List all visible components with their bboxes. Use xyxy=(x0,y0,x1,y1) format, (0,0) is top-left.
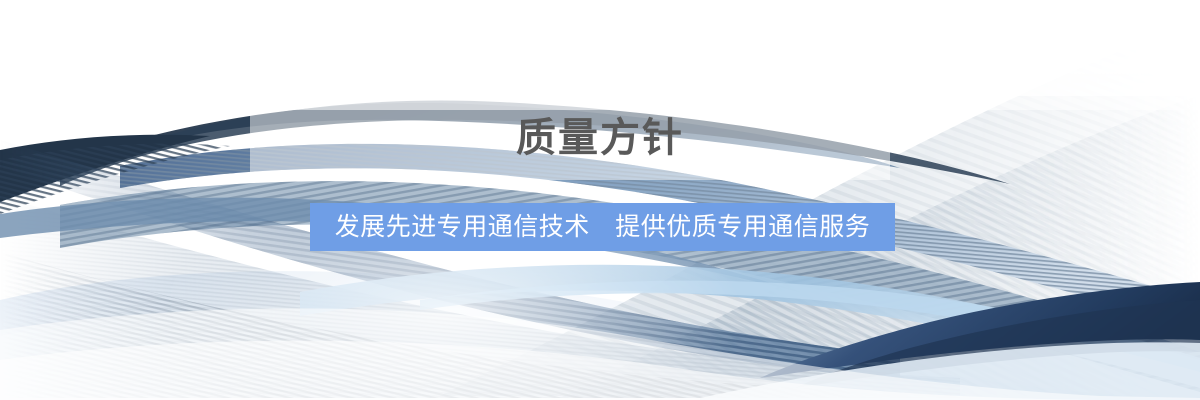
slogan-text: 发展先进专用通信技术 提供优质专用通信服务 xyxy=(335,212,871,242)
page-title: 质量方针 xyxy=(0,114,1200,162)
slogan-bar: 发展先进专用通信技术 提供优质专用通信服务 xyxy=(310,203,895,251)
abstract-wave-artwork xyxy=(0,0,1200,400)
quality-policy-banner: 质量方针 发展先进专用通信技术 提供优质专用通信服务 xyxy=(0,0,1200,400)
